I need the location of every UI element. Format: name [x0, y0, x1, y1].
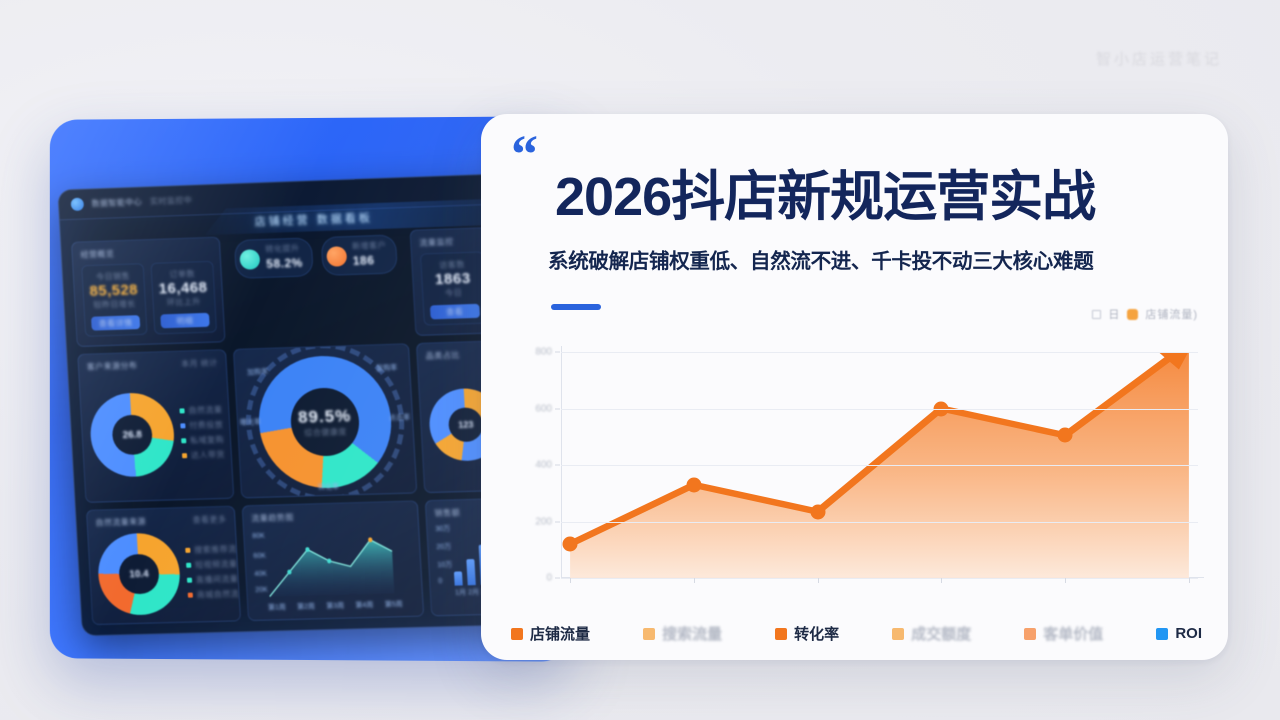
chart-plot-area: 8006004002000 [561, 352, 1198, 578]
panel-sales-heading: 销售额 [434, 507, 460, 519]
chart-y-tick-label: 600 [535, 403, 552, 414]
chart-y-tick-label: 800 [535, 347, 552, 358]
legend-item: 私域复购 [181, 434, 224, 446]
chart-y-tick [555, 521, 560, 522]
kpi-button[interactable]: 查看 [430, 304, 480, 320]
chart-y-tick-label: 400 [535, 460, 552, 471]
legend-color-swatch-icon [643, 628, 655, 640]
donut-center-value: 26.8 [88, 392, 176, 478]
gauge-tick-label: 曝光率 [240, 417, 261, 428]
series-color-swatch-icon [1127, 309, 1138, 320]
kpi-card[interactable]: 订单数 16,468 环比上升 明细 [150, 261, 216, 335]
legend-item: 自然流量 [179, 404, 222, 416]
legend-color-swatch-icon [1156, 628, 1168, 640]
chart-x-tick [570, 578, 571, 583]
chart-toolbar[interactable]: 日 店铺流量) [1092, 306, 1198, 322]
kpi-value: 85,528 [89, 281, 138, 300]
legend-item: 直播间流量 [187, 573, 241, 586]
legend-color-swatch-icon [1024, 628, 1036, 640]
legend-label: 转化率 [794, 623, 839, 644]
chart-x-tick [818, 578, 819, 583]
gauge-tick-label: 复购率 [376, 362, 398, 373]
gauge-tick-label: 加购率 [247, 367, 268, 378]
pill-label: 新增客户 [352, 240, 387, 252]
chart-y-tick [555, 465, 560, 466]
chart-y-tick [555, 408, 560, 409]
area-x-label: 第3周 [326, 601, 344, 611]
pill-indicator-icon [240, 249, 261, 270]
bars-y-label: 20万 [436, 542, 451, 552]
pill-indicator-icon [326, 246, 347, 267]
panel-traffic-heading: 流量监控 [419, 236, 454, 248]
panel-overview-heading: 经营概览 [80, 248, 114, 260]
pill-label: 转化提升 [265, 243, 302, 255]
stat-pill[interactable]: 新增客户 186 [320, 234, 397, 276]
panel-source-donut: 客户来源分布 本月 统计 26.8 自然流量 付费投放 私域复购 达人带货 [77, 349, 234, 503]
kpi-button-label: 明细 [176, 315, 193, 327]
legend-color-swatch-icon [892, 628, 904, 640]
chart-y-tick [555, 578, 560, 579]
chart-data-point[interactable] [810, 504, 825, 519]
chart-gridline [561, 409, 1198, 410]
kpi-button-label: 查看详情 [98, 317, 132, 329]
stat-pill[interactable]: 转化提升 58.2% [234, 237, 314, 279]
panel-natural-action[interactable]: 查看更多 [192, 514, 226, 526]
area-x-label: 第1周 [268, 602, 286, 612]
legend-item: 短视频流量 [186, 558, 241, 571]
chart-x-tick [1189, 578, 1190, 583]
page-title: 2026抖店新规运营实战 [555, 152, 1095, 231]
growth-chart: 8006004002000 [509, 336, 1206, 604]
legend-item[interactable]: 搜索流量 [643, 623, 722, 644]
donut-legend: 搜索推荐流量 短视频流量 直播间流量 商城自然流 [185, 543, 241, 600]
chart-toolbar-icon-label: 日 [1108, 306, 1120, 322]
chart-data-point[interactable] [686, 477, 701, 492]
chart-gridline [561, 465, 1198, 466]
page-subtitle: 系统破解店铺权重低、自然流不进、千卡投不动三大核心难题 [548, 244, 1093, 274]
legend-item: 搜索推荐流量 [185, 543, 241, 556]
brand-logo-icon [71, 198, 85, 211]
panel-trend-heading: 流量趋势图 [251, 512, 294, 524]
donut-legend: 自然流量 付费投放 私域复购 达人带货 [179, 404, 225, 461]
gauge-label: 综合健康度 [304, 426, 347, 438]
chart-gridline [561, 522, 1198, 523]
legend-color-swatch-icon [775, 628, 787, 640]
chart-gridline [561, 578, 1198, 579]
gauge-tick-label: 转化率 [318, 482, 340, 493]
chart-y-tick-label: 0 [546, 573, 552, 584]
kpi-value: 1863 [428, 270, 478, 289]
bars-x-label: 1月 [455, 587, 464, 597]
kpi-card[interactable]: 访客数 1863 今日 查看 [420, 251, 487, 325]
gauge-value: 89.5% [297, 406, 351, 428]
title-underline-accent [551, 304, 601, 310]
bars-y-label: 0 [438, 578, 442, 585]
area-y-label: 20K [255, 587, 268, 594]
kpi-sub: 今日 [429, 287, 478, 300]
legend-item[interactable]: ROI [1156, 625, 1202, 642]
chart-x-tick [694, 578, 695, 583]
legend-item[interactable]: 客单价值 [1024, 623, 1103, 644]
legend-label: 店铺流量 [530, 623, 590, 644]
panel-natural-traffic-donut: 自然流量来源 查看更多 10.4 搜索推荐流量 短视频流量 直播间流量 商城自然… [86, 506, 241, 625]
pill-value: 58.2% [266, 256, 303, 271]
chart-x-tick [1065, 578, 1066, 583]
area-y-label: 80K [252, 533, 265, 540]
kpi-button-label: 查看 [446, 306, 464, 318]
kpi-label: 订单数 [158, 268, 207, 281]
legend-item[interactable]: 转化率 [775, 623, 839, 644]
gauge-tick-ring [242, 343, 409, 498]
chart-x-tick [941, 578, 942, 583]
bars-y-label: 10万 [437, 560, 452, 570]
gauge-chart: 89.5% 综合健康度 [255, 354, 394, 490]
content-card: “ 2026抖店新规运营实战 系统破解店铺权重低、自然流不进、千卡投不动三大核心… [481, 114, 1228, 660]
legend-label: 客单价值 [1043, 623, 1103, 644]
area-chart: 80K 60K 40K 20K [252, 525, 414, 603]
area-x-label: 第5周 [384, 599, 403, 609]
area-x-label: 第4周 [355, 600, 374, 610]
bars-x-label: 2月 [468, 587, 477, 597]
gauge-tick-label: 点击率 [389, 412, 411, 423]
panel-traffic-trend: 流量趋势图 [242, 500, 425, 621]
panel-health-gauge: 89.5% 综合健康度 曝光率 点击率 加购率 复购率 转化率 [233, 343, 417, 498]
quote-mark-icon: “ [511, 136, 538, 174]
kpi-label: 今日销售 [89, 270, 138, 283]
panel-overview: 经营概览 今日销售 85,528 较昨日增长 查看详情 订单数 [71, 237, 226, 347]
bars-y-label: 30万 [435, 524, 450, 534]
donut-chart: 26.8 [88, 392, 176, 478]
kpi-sub: 较昨日增长 [90, 298, 139, 311]
legend-color-swatch-icon [511, 628, 523, 640]
chart-toolbar-series-label: 店铺流量) [1145, 306, 1198, 322]
chart-y-tick [555, 352, 560, 353]
kpi-label: 访客数 [427, 259, 476, 272]
chart-data-point[interactable] [1058, 428, 1073, 443]
legend-label: 成交额度 [911, 623, 971, 644]
dashboard-screen-title: 店铺经营 数据看板 [254, 209, 373, 229]
donut-chart: 10.4 [96, 532, 182, 616]
legend-label: ROI [1175, 625, 1202, 642]
panel-category-heading: 品类占比 [425, 350, 460, 362]
gauge-center: 89.5% 综合健康度 [255, 354, 394, 490]
area-y-label: 60K [253, 553, 266, 560]
legend-item[interactable]: 成交额度 [892, 623, 971, 644]
legend-item[interactable]: 店铺流量 [511, 623, 590, 644]
panel-natural-heading: 自然流量来源 [95, 516, 146, 528]
kpi-button[interactable]: 查看详情 [91, 315, 140, 331]
panel-source-action[interactable]: 本月 统计 [181, 357, 218, 369]
donut-center-value: 10.4 [96, 532, 182, 616]
legend-item: 付费投放 [180, 419, 223, 431]
area-chart-svg [252, 525, 414, 603]
legend-item: 商城自然流 [188, 588, 242, 601]
area-x-label: 第2周 [297, 601, 315, 611]
kpi-value: 16,468 [158, 279, 207, 298]
legend-item: 达人带货 [182, 449, 225, 461]
legend-label: 搜索流量 [662, 623, 722, 644]
calendar-icon[interactable] [1092, 310, 1101, 319]
dashboard-brand: 数据智能中心 [91, 197, 142, 210]
chart-y-tick-label: 200 [535, 516, 552, 527]
watermark-text: 智小店运营笔记 [1096, 48, 1222, 69]
kpi-button[interactable]: 明细 [160, 313, 209, 329]
chart-legend: 店铺流量搜索流量转化率成交额度客单价值ROI [511, 623, 1202, 644]
dashboard-meta: 实时监控中 [150, 195, 193, 207]
area-y-label: 40K [254, 571, 267, 578]
kpi-sub: 环比上升 [159, 296, 208, 309]
panel-source-heading: 客户来源分布 [87, 360, 138, 373]
chart-gridline [561, 352, 1198, 353]
pill-value: 186 [352, 253, 374, 268]
kpi-card[interactable]: 今日销售 85,528 较昨日增长 查看详情 [81, 263, 147, 337]
chart-data-point[interactable] [563, 537, 578, 552]
